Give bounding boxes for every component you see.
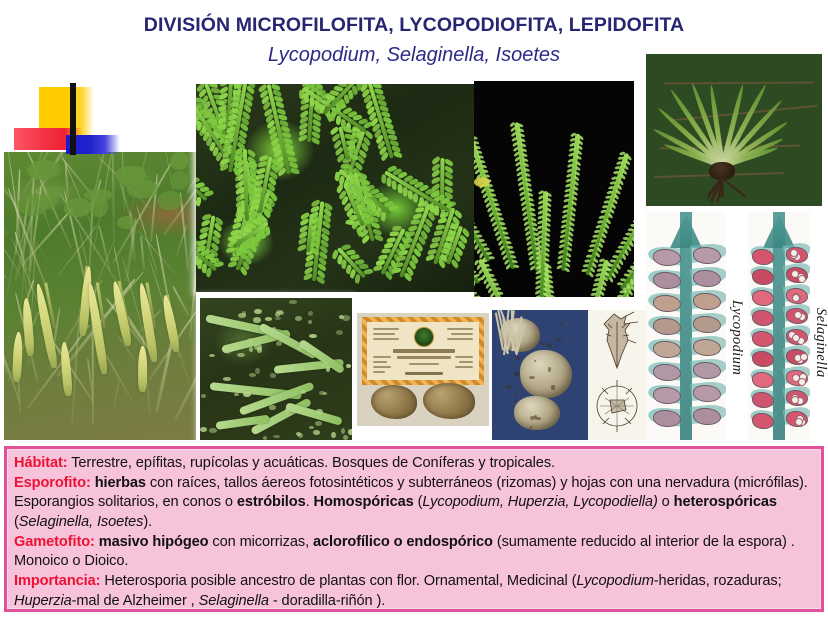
sporangium xyxy=(653,387,681,404)
branch-leaflet xyxy=(254,309,262,315)
shoot-scale-leaf xyxy=(617,282,623,285)
shoot-scale-leaf xyxy=(479,239,485,243)
description-run: Lycopodium, Huperzia, Lycopodiella) xyxy=(422,494,657,510)
shoot-scale-leaf xyxy=(489,256,495,259)
branch-leaflet xyxy=(341,428,345,434)
shoot-scale-leaf xyxy=(474,221,475,224)
shoot-scale-leaf xyxy=(564,267,571,273)
grass-blade xyxy=(140,236,145,269)
description-run: Selaginella, Isoetes xyxy=(19,514,144,530)
description-run: o xyxy=(658,494,674,510)
frond-pinna xyxy=(359,207,369,213)
frond-pinna xyxy=(449,223,458,228)
shoot-scale-leaf xyxy=(488,273,494,277)
frond-pinna xyxy=(275,101,285,109)
foliage-leaf xyxy=(170,152,188,170)
figure-caption-selaginella: Selaginella xyxy=(812,308,828,378)
sporangium xyxy=(752,269,774,285)
grass-blade xyxy=(112,152,115,244)
description-run: con micorrizas, xyxy=(208,534,313,550)
branch-leaflet xyxy=(336,330,343,335)
frond-pinna xyxy=(443,242,452,248)
branch-leaflet xyxy=(331,432,336,438)
isoetes-root xyxy=(721,177,746,197)
spore xyxy=(792,294,800,302)
sporangium xyxy=(752,249,774,265)
frond-pinna xyxy=(311,137,321,145)
corm-speckle xyxy=(530,426,532,429)
sporangium xyxy=(752,310,774,326)
frond-pinna xyxy=(276,107,286,114)
figure-selaginella-ground-content xyxy=(200,298,352,440)
figure-lycopodium-habit xyxy=(4,152,196,440)
sporangium xyxy=(693,247,721,264)
frond-pinna xyxy=(288,156,297,162)
description-text: Hábitat: Terrestre, epífitas, rupícolas … xyxy=(14,454,814,611)
corm-speckle xyxy=(556,338,562,341)
branch-leaflet xyxy=(209,428,216,433)
strobilus xyxy=(12,332,23,382)
branch-leaflet xyxy=(209,354,215,357)
figure-selaginella-strobilus-section xyxy=(748,212,810,440)
selaginella-frond xyxy=(333,244,370,283)
motif-black-bar xyxy=(70,83,76,155)
frond-pinna xyxy=(397,184,403,193)
foliage-leaf xyxy=(31,161,62,179)
selaginella-frond xyxy=(301,213,319,252)
branch-leaflet xyxy=(315,421,322,426)
grass-blade xyxy=(113,380,120,412)
figure-lycopodium-black xyxy=(474,81,634,297)
sporangium xyxy=(752,351,774,367)
frond-pinna xyxy=(431,236,440,242)
branch-leaflet xyxy=(263,436,268,440)
description-entry-label: Hábitat: xyxy=(14,455,68,471)
description-run: estróbilos xyxy=(237,494,306,510)
sporangium xyxy=(693,362,721,379)
foliage-leaf xyxy=(64,198,90,217)
branch-leaflet xyxy=(346,364,351,368)
frond-pinna xyxy=(391,181,396,190)
figure-isoetes-corms-content xyxy=(492,310,588,440)
foliage-leaf xyxy=(84,189,112,200)
branch-leaflet xyxy=(308,320,312,325)
branch-leaflet xyxy=(309,334,317,338)
frond-pinna xyxy=(351,189,360,195)
branch-leaflet xyxy=(238,313,246,318)
branch-leaflet xyxy=(255,368,259,374)
page-subtitle: Lycopodium, Selaginella, Isoetes xyxy=(0,44,828,67)
finger-crease xyxy=(664,82,814,85)
shoot-scale-leaf xyxy=(490,278,496,282)
branch-leaflet xyxy=(270,373,276,378)
branch-leaflet xyxy=(301,390,306,395)
branch-leaflet xyxy=(265,317,272,320)
spore xyxy=(798,378,806,386)
sporangium xyxy=(752,331,774,347)
sporangium xyxy=(653,249,681,266)
branch-leaflet xyxy=(200,427,207,432)
shoot-scale-leaf xyxy=(612,255,618,258)
frond-pinna xyxy=(445,236,454,242)
foliage-leaf xyxy=(39,195,57,209)
description-run: - doradilla-riñón ). xyxy=(269,593,385,609)
description-run: hierbas xyxy=(95,475,146,491)
frond-pinna xyxy=(360,180,369,186)
dried-plant-clump xyxy=(371,385,417,419)
sporangium xyxy=(693,270,721,287)
sporangium xyxy=(752,392,774,408)
shoot-scale-leaf xyxy=(628,228,634,231)
description-run: Selaginella xyxy=(199,593,269,609)
frond-pinna xyxy=(374,235,384,242)
description-run: Huperzia xyxy=(14,593,72,609)
branch-leaflet xyxy=(309,426,314,430)
branch-leaflet xyxy=(298,346,302,350)
description-run: Homospóricas xyxy=(314,494,414,510)
spore xyxy=(790,249,798,257)
frond-pinna xyxy=(423,200,428,209)
frond-pinna xyxy=(348,183,357,188)
corm-speckle xyxy=(506,385,512,390)
sporophyll-drawing-svg xyxy=(588,310,646,440)
certificate-seal-icon xyxy=(414,327,434,347)
product-certificate-card xyxy=(362,317,484,385)
shoot-scale-leaf xyxy=(486,252,492,255)
branch-leaflet xyxy=(223,377,231,380)
sporangium xyxy=(693,339,721,356)
figure-isoetes-corms xyxy=(492,310,588,440)
sporangium xyxy=(693,316,721,333)
branch-leaflet xyxy=(254,344,262,349)
description-entry-label: Gametofito: xyxy=(14,534,95,550)
figure-lycopodium-strobilus-section xyxy=(646,212,726,440)
figure-lycopodium-black-content xyxy=(474,81,634,297)
yellow-sporangium xyxy=(474,177,490,187)
frond-pinna xyxy=(286,149,296,156)
description-run: -heridas, rozaduras; xyxy=(654,573,782,589)
branch-leaflet xyxy=(273,435,280,438)
sporangium xyxy=(653,295,681,312)
grass-blade xyxy=(4,202,7,278)
foliage-leaf xyxy=(171,171,188,190)
description-entry-label: Esporofito: xyxy=(14,475,91,491)
grass-blade xyxy=(103,352,133,401)
corm-speckle xyxy=(561,322,563,326)
description-panel: Hábitat: Terrestre, epífitas, rupícolas … xyxy=(4,446,824,612)
branch-leaflet xyxy=(342,315,350,320)
description-run: aclorofílico o endospórico xyxy=(313,534,493,550)
sporangium xyxy=(653,364,681,381)
shoot-scale-leaf xyxy=(474,136,478,140)
lycopodium-shoot xyxy=(558,133,582,271)
shoot-scale-leaf xyxy=(633,262,634,265)
frond-pinna xyxy=(289,161,299,168)
frond-pinna xyxy=(280,125,290,132)
grass-blade xyxy=(172,285,190,316)
description-run: masivo hipógeo xyxy=(99,534,209,550)
figure-isoetes-hand xyxy=(646,54,822,206)
branch-leaflet xyxy=(253,317,261,323)
shoot-scale-leaf xyxy=(484,247,490,250)
description-entry: Importancia: Heterosporia posible ancest… xyxy=(14,572,814,611)
spore xyxy=(792,334,800,342)
figure-sporophyll-drawings xyxy=(588,310,646,440)
shoot-scale-leaf xyxy=(549,294,556,297)
dried-plant-clump xyxy=(423,383,475,419)
shoot-scale-leaf xyxy=(481,243,487,246)
figure-selaginella-ground xyxy=(200,298,352,440)
isoetes-corm xyxy=(514,396,560,430)
sporangium xyxy=(752,372,774,388)
grass-blade xyxy=(174,355,196,420)
institutional-color-motif xyxy=(14,83,122,155)
branch-leaflet xyxy=(295,316,302,321)
shoot-scale-leaf xyxy=(474,280,476,286)
branch-leaflet xyxy=(289,300,297,303)
isoetes-corm xyxy=(520,350,572,398)
sporangium xyxy=(752,290,774,306)
figure-herbal-product-label xyxy=(357,313,489,426)
frond-pinna xyxy=(393,151,403,158)
description-entry: Gametofito: masivo hipógeo con micorriza… xyxy=(14,533,814,572)
branch-leaflet xyxy=(243,392,250,397)
shoot-scale-leaf xyxy=(630,224,634,228)
frond-pinna xyxy=(354,274,361,284)
corm-speckle xyxy=(514,400,517,402)
branch-leaflet xyxy=(321,362,328,366)
sporangium xyxy=(693,385,721,402)
figure-selaginella-mat-content xyxy=(196,84,474,292)
frond-pinna xyxy=(440,248,449,254)
branch-leaflet xyxy=(326,366,331,372)
branch-leaflet xyxy=(269,405,276,409)
branch-leaflet xyxy=(201,394,206,398)
branch-leaflet xyxy=(249,373,256,377)
foliage-leaf xyxy=(117,216,135,229)
branch-leaflet xyxy=(276,341,282,347)
sporangium xyxy=(693,293,721,310)
frond-pinna xyxy=(290,168,300,174)
foliage-leaf xyxy=(157,191,182,210)
shoot-scale-leaf xyxy=(476,235,482,238)
description-run: Lycopodium xyxy=(576,573,653,589)
branch-leaflet xyxy=(285,408,290,413)
branch-leaflet xyxy=(288,366,295,370)
corm-speckle xyxy=(516,372,519,377)
branch-leaflet xyxy=(298,433,303,439)
sporangium xyxy=(653,410,681,427)
figure-selaginella-mat xyxy=(196,84,474,292)
strobilus xyxy=(138,346,147,392)
branch-leaflet xyxy=(208,316,213,320)
branch-leaflet xyxy=(234,393,238,396)
description-run: Terrestre, epífitas, rupícolas y acuátic… xyxy=(68,455,555,471)
selaginella-frond xyxy=(333,125,355,162)
branch-leaflet xyxy=(348,429,352,434)
shoot-scale-leaf xyxy=(482,259,488,262)
grass-blade xyxy=(27,325,90,409)
frond-pinna xyxy=(436,224,445,229)
branch-leaflet xyxy=(275,317,281,320)
description-entry-label: Importancia: xyxy=(14,573,100,589)
shoot-scale-leaf xyxy=(474,295,480,297)
shoot-scale-leaf xyxy=(493,283,499,287)
lycopodium-shoot xyxy=(536,191,550,297)
frond-pinna xyxy=(363,268,373,276)
spore xyxy=(798,275,806,283)
frond-pinna xyxy=(433,230,442,235)
grass-blade xyxy=(186,152,196,265)
corm-speckle xyxy=(515,394,517,398)
branch-leaflet xyxy=(313,430,320,435)
grass-blade xyxy=(189,272,196,339)
corm-speckle xyxy=(547,343,552,348)
grass-blade xyxy=(4,336,6,427)
branch-leaflet xyxy=(308,311,313,316)
description-run: Heterosporia posible ancestro de plantas… xyxy=(100,573,576,589)
shoot-scale-leaf xyxy=(474,230,480,233)
figure-lycopodium-habit-content xyxy=(4,152,196,440)
sporangium xyxy=(693,408,721,425)
figure-isoetes-hand-content xyxy=(646,54,822,206)
shoot-scale-leaf xyxy=(617,295,623,297)
branch-leaflet xyxy=(237,353,245,357)
shoot-scale-leaf xyxy=(633,219,634,222)
branch-leaflet xyxy=(319,391,325,395)
frond-pinna xyxy=(427,248,437,254)
corm-speckle xyxy=(515,356,520,361)
shoot-scale-leaf xyxy=(620,278,626,281)
description-run: ). xyxy=(143,514,152,530)
corm-speckle xyxy=(542,343,547,345)
sporangium xyxy=(752,413,774,429)
shoot-scale-leaf xyxy=(500,296,506,297)
branch-leaflet xyxy=(227,346,234,351)
branch-leaflet xyxy=(249,347,253,353)
description-run: . xyxy=(306,494,314,510)
spore xyxy=(800,353,808,361)
description-run: -mal de Alzheimer , xyxy=(72,593,199,609)
figure-selaginella-section-content xyxy=(748,212,810,440)
description-entry: Esporofito: hierbas con raíces, tallos á… xyxy=(14,474,814,532)
shoot-scale-leaf xyxy=(484,264,490,267)
sporangium xyxy=(653,341,681,358)
description-run: heterospóricas xyxy=(674,494,777,510)
description-entry: Hábitat: Terrestre, epífitas, rupícolas … xyxy=(14,454,814,473)
page-title: DIVISIÓN MICROFILOFITA, LYCOPODIOFITA, L… xyxy=(0,14,828,37)
figure-lycopodium-section-content xyxy=(646,212,726,440)
strobilus-apex xyxy=(670,214,702,248)
spore xyxy=(795,418,803,426)
branch-leaflet xyxy=(343,435,348,440)
sporangium xyxy=(653,318,681,335)
frond-pinna xyxy=(363,191,373,198)
branch-leaflet xyxy=(275,312,280,317)
strobilus-apex xyxy=(763,214,795,248)
figure-caption-lycopodium: Lycopodium xyxy=(728,300,745,375)
shoot-scale-leaf xyxy=(474,226,477,229)
frond-pinna xyxy=(278,114,287,120)
corm-speckle xyxy=(551,385,554,390)
sporangium xyxy=(653,272,681,289)
corm-speckle xyxy=(548,367,551,372)
